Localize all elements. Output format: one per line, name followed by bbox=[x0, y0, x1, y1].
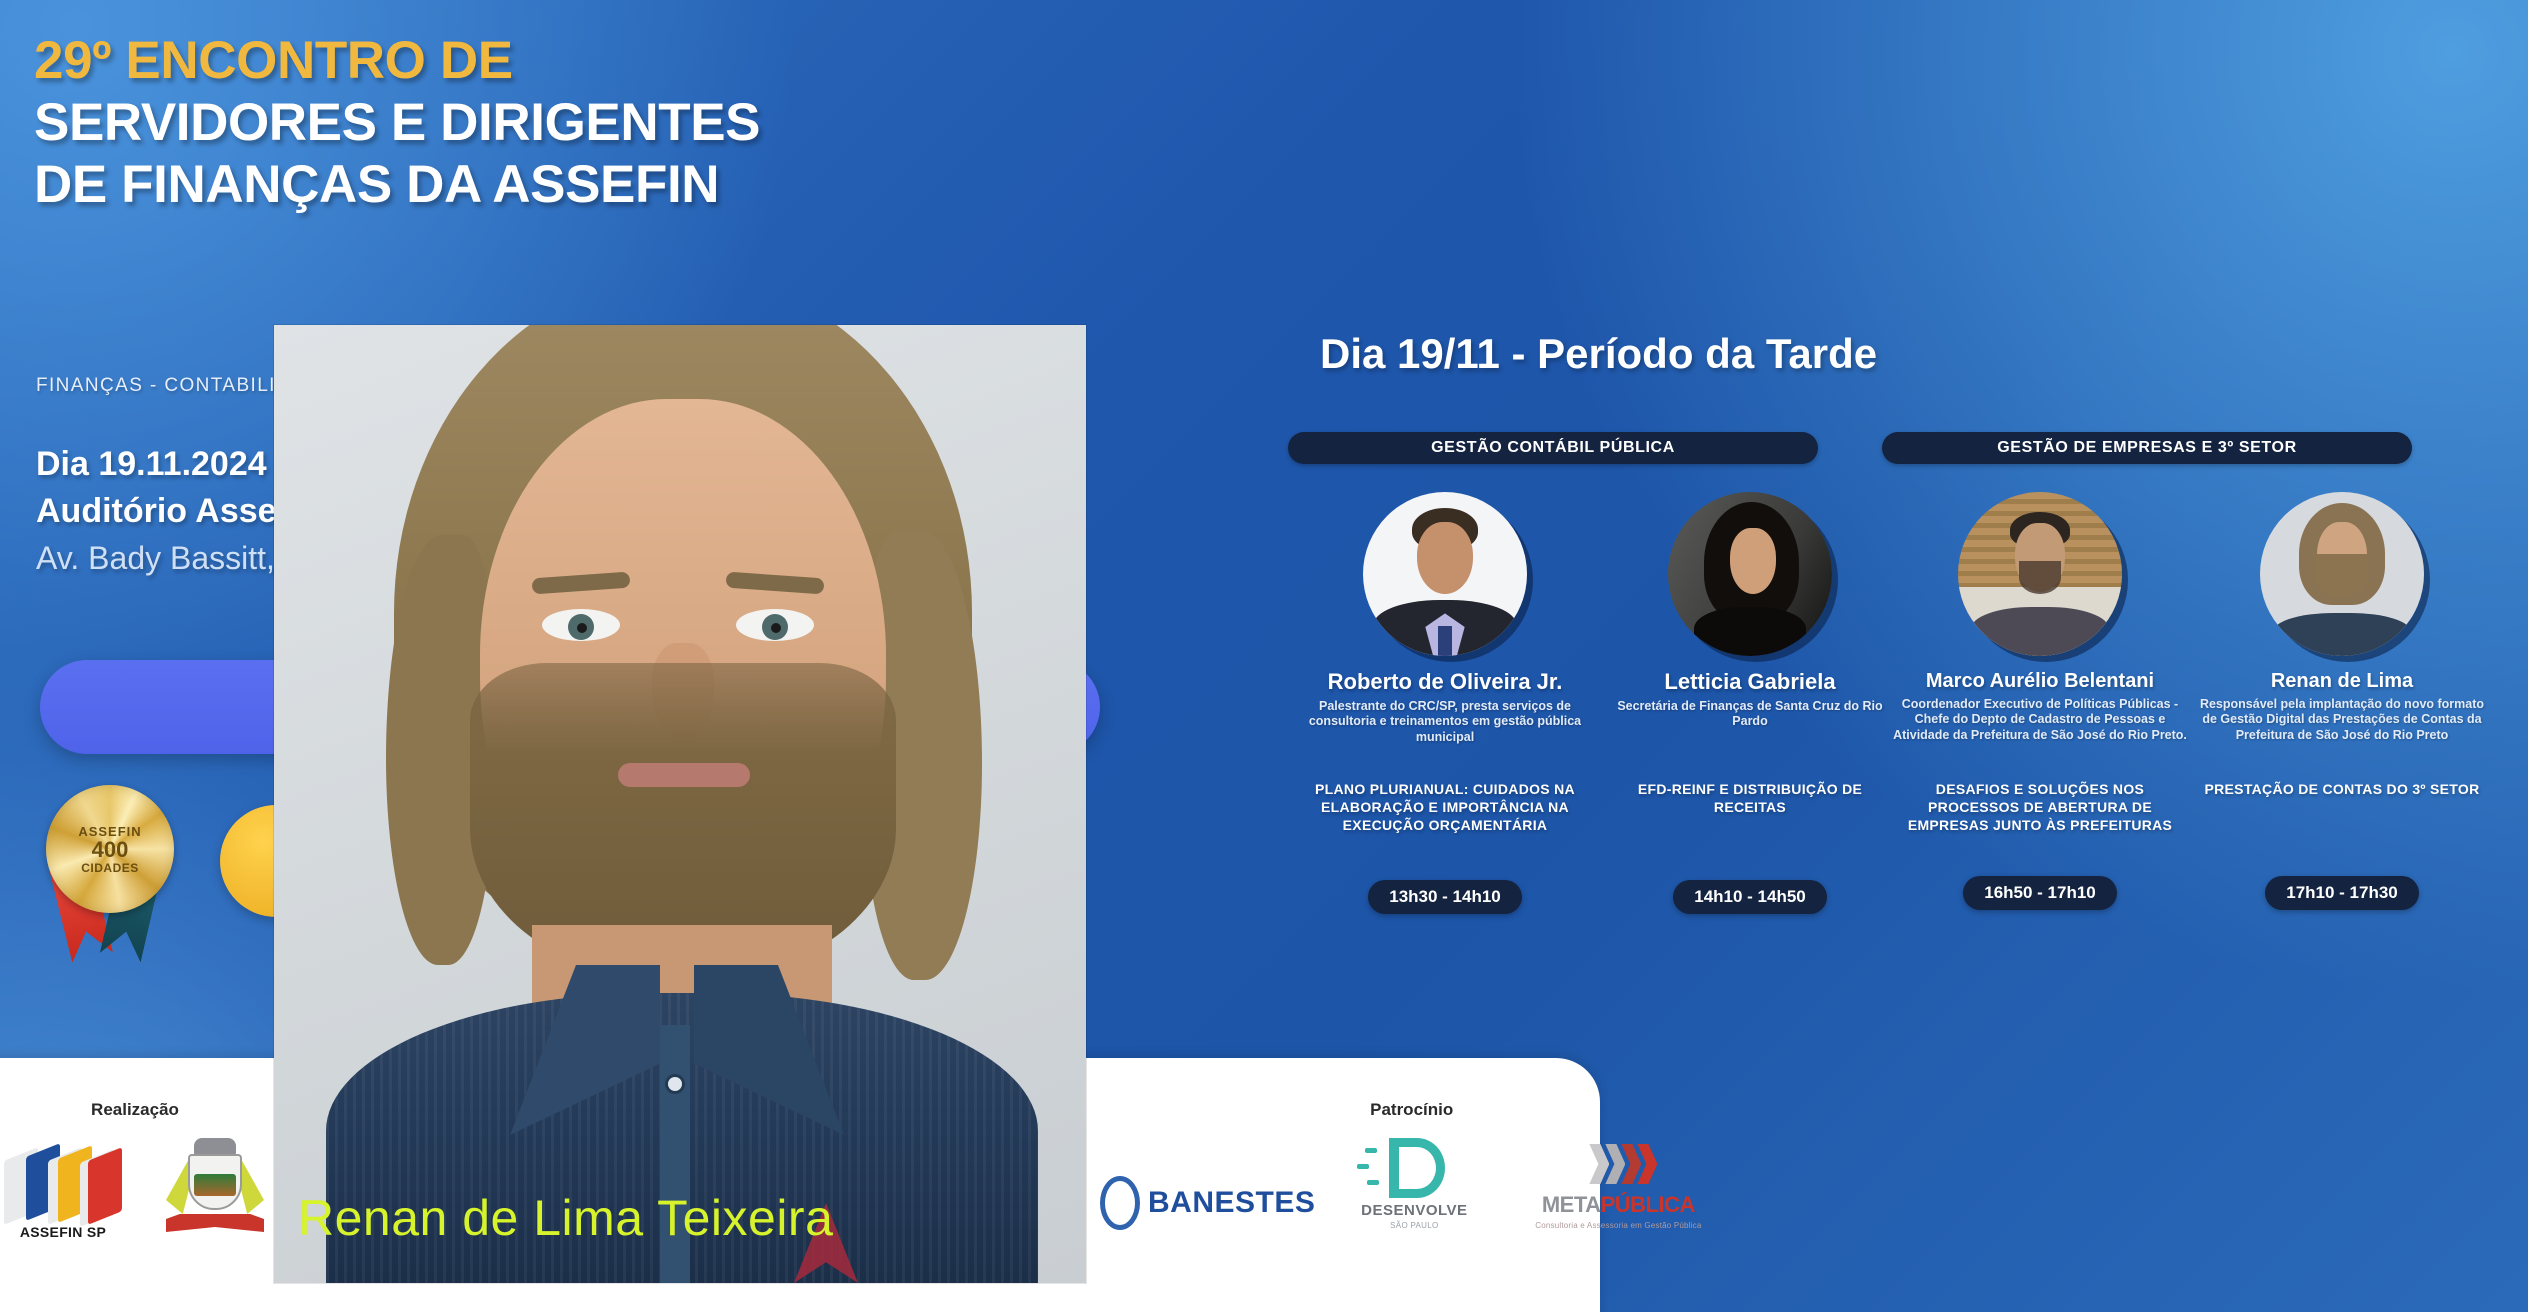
sponsor-logo-row: ASSEFIN SP bbox=[0, 1136, 270, 1240]
speaker-time-pill: 14h10 - 14h50 bbox=[1673, 880, 1827, 914]
badge-seal-bottom-text: CIDADES bbox=[81, 861, 139, 875]
avatar bbox=[2260, 492, 2424, 656]
desenvolve-tagline: SÃO PAULO bbox=[1349, 1221, 1479, 1230]
event-date: Dia 19.11.2024 bbox=[36, 445, 267, 484]
speaker-name: Roberto de Oliveira Jr. bbox=[1295, 670, 1595, 694]
speaker-topic: PLANO PLURIANUAL: CUIDADOS NA ELABORAÇÃO… bbox=[1295, 780, 1595, 835]
desenvolve-logo-icon: DESENVOLVE SÃO PAULO bbox=[1349, 1136, 1479, 1230]
speaker-time: 14h10 - 14h50 bbox=[1694, 887, 1806, 907]
speaker-role: Coordenador Executivo de Políticas Públi… bbox=[1890, 697, 2190, 743]
metapublica-tagline: Consultoria e Assessoria em Gestão Públi… bbox=[1513, 1221, 1723, 1230]
avatar-shirt bbox=[2273, 613, 2411, 656]
desenvolve-logo-mark bbox=[1349, 1136, 1479, 1202]
speaker-time: 17h10 - 17h30 bbox=[2286, 883, 2398, 903]
desenvolve-d-bar bbox=[1389, 1138, 1399, 1198]
speaker-time: 16h50 - 17h10 bbox=[1984, 883, 2096, 903]
coa-banner bbox=[166, 1214, 264, 1232]
avatar-shirt bbox=[1971, 607, 2109, 656]
speaker-topic: DESAFIOS E SOLUÇÕES NOS PROCESSOS DE ABE… bbox=[1890, 780, 2190, 835]
metapublica-chevron bbox=[1589, 1144, 1609, 1184]
avatar-photo bbox=[2260, 492, 2424, 656]
metapublica-word-publica: PÚBLICA bbox=[1601, 1192, 1695, 1217]
speaker-time-pill: 17h10 - 17h30 bbox=[2265, 876, 2419, 910]
speaker-topic: EFD-REINF E DISTRIBUIÇÃO DE RECEITAS bbox=[1600, 780, 1900, 816]
assefin-400-cidades-badge-icon: ASSEFIN 400 CIDADES bbox=[30, 785, 190, 965]
avatar-face bbox=[1417, 522, 1473, 594]
avatar-face bbox=[1730, 528, 1776, 594]
avatar bbox=[1668, 492, 1832, 656]
speaker-role: Responsável pela implantação do novo for… bbox=[2192, 697, 2492, 743]
event-title-line-2: SERVIDORES E DIRIGENTES bbox=[34, 96, 1154, 150]
speaker-time: 13h30 - 14h10 bbox=[1389, 887, 1501, 907]
city-coat-of-arms-icon bbox=[160, 1136, 270, 1240]
avatar-beard bbox=[2019, 561, 2062, 594]
avatar-photo bbox=[1958, 492, 2122, 656]
avatar-photo bbox=[1668, 492, 1832, 656]
banestes-logo-icon: BANESTES bbox=[1100, 1176, 1315, 1230]
banestes-ring-mark bbox=[1100, 1176, 1140, 1230]
sponsor-group-patrocinio: Patrocínio BANESTES DESENVOLVE SÃO P bbox=[1100, 1100, 1723, 1230]
speaker-card: Roberto de Oliveira Jr. Palestrante do C… bbox=[1295, 492, 1595, 745]
avatar-photo bbox=[1363, 492, 1527, 656]
speaker-topic: PRESTAÇÃO DE CONTAS DO 3º SETOR bbox=[2192, 780, 2492, 798]
speaker-role: Palestrante do CRC/SP, presta serviços d… bbox=[1295, 699, 1595, 745]
sponsor-group-label: Patrocínio bbox=[1100, 1100, 1723, 1120]
sponsor-group-label: Realização bbox=[0, 1100, 270, 1120]
speaker-name: Renan de Lima bbox=[2192, 670, 2492, 692]
metapublica-word-meta: META bbox=[1542, 1192, 1601, 1217]
webcam-pupil-right bbox=[771, 623, 781, 633]
event-title-block: 29º ENCONTRO DE SERVIDORES E DIRIGENTES … bbox=[34, 34, 1154, 212]
badge-seal-number: 400 bbox=[92, 839, 129, 861]
banestes-wordmark: BANESTES bbox=[1148, 1186, 1315, 1220]
speaker-card: Marco Aurélio Belentani Coordenador Exec… bbox=[1890, 492, 2190, 743]
coa-shield-inner bbox=[194, 1174, 236, 1196]
desenvolve-dash bbox=[1365, 1148, 1377, 1153]
webcam-video-tile[interactable]: Renan de Lima Teixeira bbox=[274, 325, 1086, 1283]
assefin-sheet-red bbox=[88, 1147, 122, 1225]
webcam-participant-name: Renan de Lima Teixeira bbox=[298, 1189, 833, 1247]
desenvolve-dash bbox=[1367, 1180, 1379, 1185]
speaker-card-list: Roberto de Oliveira Jr. Palestrante do C… bbox=[1180, 0, 2528, 1055]
event-title-line-1: 29º ENCONTRO DE bbox=[34, 34, 1154, 88]
avatar bbox=[1363, 492, 1527, 656]
event-title-line-3: DE FINANÇAS DA ASSEFIN bbox=[34, 158, 1154, 212]
sponsor-group-realizacao: Realização ASSEFIN SP bbox=[0, 1100, 270, 1240]
slide-canvas: 29º ENCONTRO DE SERVIDORES E DIRIGENTES … bbox=[0, 0, 2528, 1312]
assefin-logo-caption: ASSEFIN SP bbox=[0, 1224, 126, 1240]
avatar bbox=[1958, 492, 2122, 656]
agenda-column: Dia 19/11 - Período da Tarde GESTÃO CONT… bbox=[1180, 0, 2528, 1055]
metapublica-wordmark: METAPÚBLICA bbox=[1513, 1192, 1723, 1218]
avatar-beard bbox=[2316, 554, 2368, 597]
speaker-card: Letticia Gabriela Secretária de Finanças… bbox=[1600, 492, 1900, 730]
speaker-role: Secretária de Finanças de Santa Cruz do … bbox=[1600, 699, 1900, 730]
speaker-name: Marco Aurélio Belentani bbox=[1890, 670, 2190, 692]
speaker-time-pill: 13h30 - 14h10 bbox=[1368, 880, 1522, 914]
speaker-name: Letticia Gabriela bbox=[1600, 670, 1900, 694]
metapublica-logo-icon: METAPÚBLICA Consultoria e Assessoria em … bbox=[1513, 1136, 1723, 1230]
webcam-pupil-left bbox=[577, 623, 587, 633]
assefin-sp-logo-icon: ASSEFIN SP bbox=[0, 1146, 126, 1240]
speaker-card: Renan de Lima Responsável pela implantaç… bbox=[2192, 492, 2492, 743]
sponsor-logo-row: BANESTES DESENVOLVE SÃO PAULO bbox=[1100, 1136, 1723, 1230]
desenvolve-wordmark: DESENVOLVE bbox=[1349, 1202, 1479, 1219]
assefin-logo-mark bbox=[0, 1146, 126, 1222]
webcam-mouth bbox=[618, 763, 750, 787]
metapublica-chevron-mark bbox=[1513, 1136, 1723, 1192]
webcam-shirt-button bbox=[668, 1077, 682, 1091]
badge-seal: ASSEFIN 400 CIDADES bbox=[46, 785, 174, 913]
avatar-top bbox=[1694, 607, 1806, 656]
desenvolve-dash bbox=[1357, 1164, 1369, 1169]
speaker-time-pill: 16h50 - 17h10 bbox=[1963, 876, 2117, 910]
avatar-tie bbox=[1438, 626, 1451, 656]
